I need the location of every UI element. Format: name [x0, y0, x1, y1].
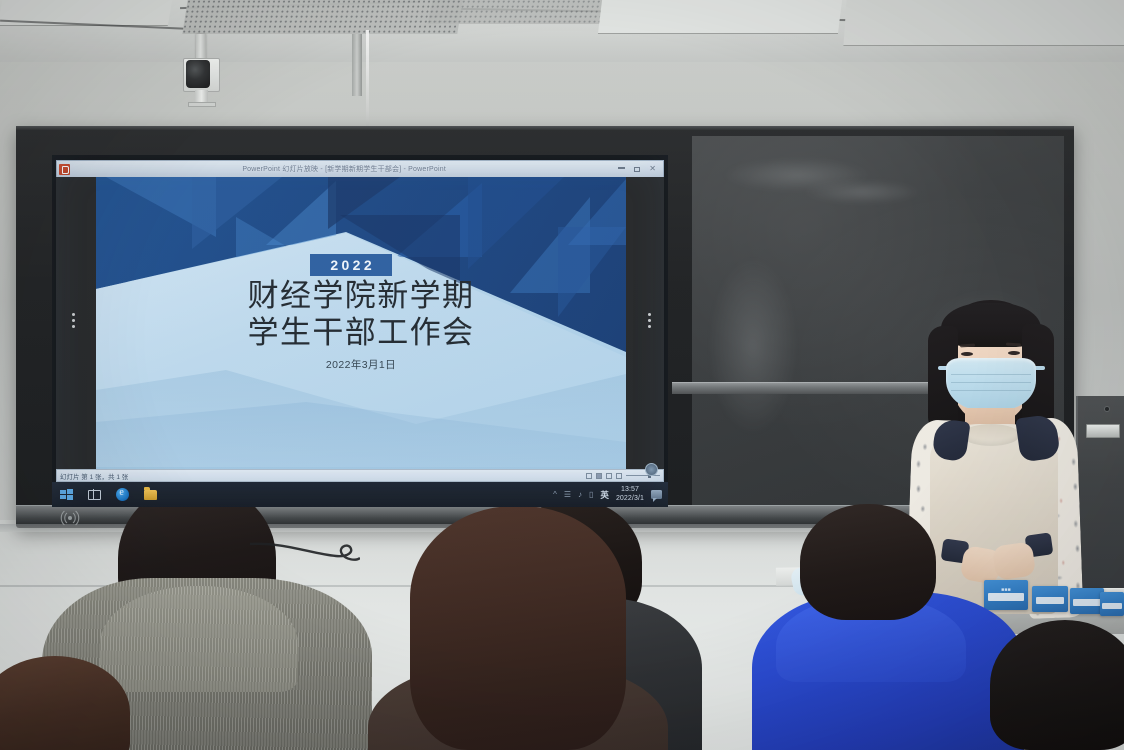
powerpoint-icon — [59, 164, 70, 175]
supply-box: ■■■ — [984, 580, 1028, 610]
year-badge: 2022 — [310, 254, 392, 276]
system-tray[interactable]: ^ ☰ ♪ ▯ 英 13:57 2022/3/1 — [553, 486, 668, 503]
keyboard-icon[interactable]: ▯ — [589, 491, 593, 499]
fit-to-window-button[interactable] — [645, 463, 658, 476]
powerpoint-status-bar[interactable]: 幻灯片 第 1 张，共 1 张 — [56, 469, 664, 482]
restore-button[interactable] — [634, 167, 640, 172]
slide-pane-handle-left[interactable] — [72, 313, 75, 328]
network-icon[interactable]: ☰ — [564, 491, 571, 499]
cabinet-handle[interactable] — [1086, 424, 1120, 438]
ceiling-tile — [598, 0, 842, 34]
windows-taskbar[interactable]: ^ ☰ ♪ ▯ 英 13:57 2022/3/1 — [52, 482, 668, 507]
windows-start-icon[interactable] — [60, 489, 73, 501]
slide-date: 2022年3月1日 — [96, 357, 626, 372]
minimize-button[interactable] — [618, 167, 625, 168]
slide-pane-handle-right[interactable] — [648, 313, 651, 328]
normal-view-icon[interactable] — [586, 473, 592, 479]
cabinet-lock-icon — [1104, 406, 1110, 412]
show-hidden-icons-chevron[interactable]: ^ — [553, 491, 557, 499]
audience-hood — [100, 586, 298, 692]
presenter-face-mask — [946, 358, 1036, 410]
ime-language-label[interactable]: 英 — [600, 489, 609, 501]
camera-base — [188, 102, 216, 107]
edge-browser-icon[interactable] — [116, 488, 129, 501]
slide-count-label: 幻灯片 第 1 张，共 1 张 — [60, 471, 128, 481]
reading-view-icon[interactable] — [606, 473, 612, 479]
slide-1[interactable]: 2022 财经学院新学期 学生干部工作会 2022年3月1日 — [96, 177, 626, 469]
year-badge-label: 2022 — [327, 257, 375, 273]
slide-title-line1: 财经学院新学期 — [96, 277, 626, 314]
slide-canvas-area[interactable]: 2022 财经学院新学期 学生干部工作会 2022年3月1日 — [56, 177, 664, 469]
presenter-eye-right — [1008, 351, 1020, 355]
powerpoint-titlebar[interactable]: PowerPoint 幻灯片放映 - [新学期新期学生干部会] - PowerP… — [56, 160, 664, 177]
perforated-ceiling-panel — [427, 0, 612, 24]
presenter-eye-left — [961, 352, 973, 356]
taskbar-clock[interactable]: 13:57 2022/3/1 — [616, 486, 644, 503]
power-cable — [250, 540, 360, 570]
presenter-collar — [962, 424, 1020, 446]
clock-time: 13:57 — [616, 486, 644, 495]
taskbar-icons[interactable] — [52, 488, 157, 501]
audience-head — [990, 620, 1124, 750]
wall-duct — [352, 34, 362, 96]
chalk-smudge — [708, 256, 798, 436]
action-center-icon[interactable] — [651, 490, 662, 499]
window-controls[interactable]: ✕ — [618, 165, 663, 173]
supply-box — [1070, 588, 1104, 614]
task-view-icon[interactable] — [88, 490, 101, 500]
slide-title-line2: 学生干部工作会 — [96, 314, 626, 351]
supply-box — [1100, 592, 1124, 616]
classroom-photo: PowerPoint 幻灯片放映 - [新学期新期学生干部会] - PowerP… — [0, 0, 1124, 750]
camera-lens-icon — [186, 60, 210, 88]
chalk-smudge — [802, 180, 922, 204]
polygon-facet — [568, 179, 626, 245]
presenter-hand-right — [992, 541, 1036, 580]
file-explorer-icon[interactable] — [144, 490, 157, 500]
wireless-signal-icon — [56, 509, 84, 527]
panel-top-highlight — [16, 126, 1074, 130]
slide-title: 财经学院新学期 学生干部工作会 — [96, 277, 626, 351]
close-icon[interactable]: ✕ — [649, 165, 656, 173]
supply-box — [1032, 586, 1068, 612]
ceiling-tile — [843, 0, 1124, 46]
perforated-ceiling-panel — [182, 0, 462, 34]
window-title: PowerPoint 幻灯片放映 - [新学期新期学生干部会] - PowerP… — [70, 164, 618, 174]
clock-date: 2022/3/1 — [616, 495, 644, 504]
slide-sorter-view-icon[interactable] — [596, 473, 602, 479]
volume-icon[interactable]: ♪ — [578, 491, 582, 499]
audience-head — [800, 504, 936, 620]
audience-hair — [410, 506, 626, 750]
slide-show-view-icon[interactable] — [616, 473, 622, 479]
